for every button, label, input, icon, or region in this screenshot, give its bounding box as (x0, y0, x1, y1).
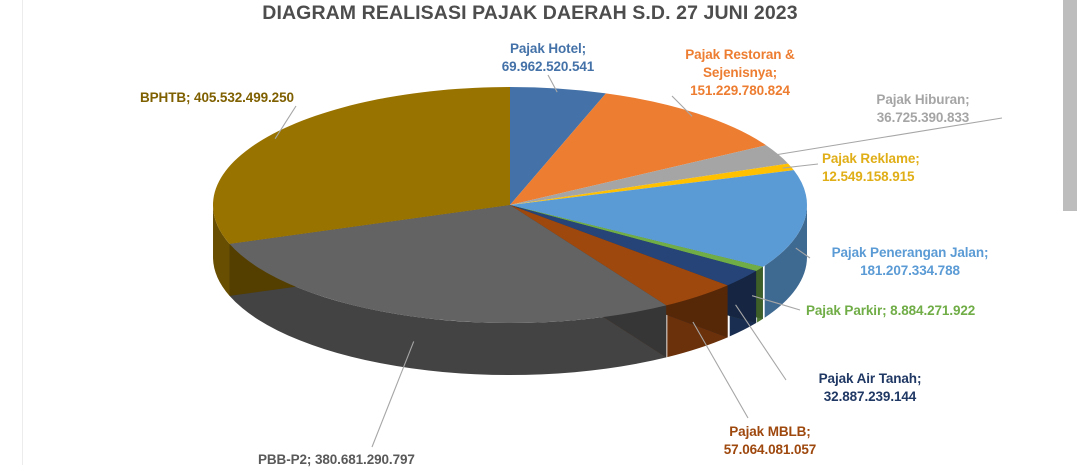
label-pajak-hotel-name: Pajak Hotel; (510, 41, 586, 56)
label-pajak-mblb-name: Pajak MBLB; (729, 424, 810, 439)
label-pajak-reklame: Pajak Reklame; 12.549.158.915 (822, 150, 1012, 186)
label-pajak-mblb-value: 57.064.081.057 (690, 441, 850, 459)
pie-top-faces (213, 87, 807, 323)
label-pajak-restoran: Pajak Restoran & Sejenisnya; 151.229.780… (658, 46, 822, 100)
label-pajak-reklame-value: 12.549.158.915 (822, 168, 1012, 186)
label-pajak-mblb: Pajak MBLB; 57.064.081.057 (690, 423, 850, 459)
label-pajak-restoran-name1: Pajak Restoran & (685, 47, 794, 62)
chart-canvas: DIAGRAM REALISASI PAJAK DAERAH S.D. 27 J… (0, 0, 1080, 465)
label-pajak-hiburan: Pajak Hiburan; 36.725.390.833 (848, 91, 998, 127)
label-pajak-air-tanah-value: 32.887.239.144 (790, 388, 950, 406)
label-pajak-restoran-name2: Sejenisnya; (658, 64, 822, 82)
label-pajak-air-tanah: Pajak Air Tanah; 32.887.239.144 (790, 370, 950, 406)
label-pajak-hotel-value: 69.962.520.541 (478, 58, 618, 76)
label-pajak-reklame-name: Pajak Reklame; (822, 151, 920, 166)
label-pbb-p2: PBB-P2; 380.681.290.797 (258, 451, 518, 469)
vertical-scrollbar[interactable] (1062, 0, 1080, 465)
label-pajak-parkir-text: Pajak Parkir; 8.884.271.922 (806, 303, 975, 318)
label-bphtb-text: BPHTB; 405.532.499.250 (140, 90, 294, 105)
label-pajak-air-tanah-name: Pajak Air Tanah; (819, 371, 922, 386)
scrollbar-thumb[interactable] (1063, 0, 1077, 211)
label-pajak-penerangan-jalan-name: Pajak Penerangan Jalan; (832, 245, 989, 260)
label-pajak-penerangan-jalan: Pajak Penerangan Jalan; 181.207.334.788 (820, 244, 1000, 280)
label-pajak-hiburan-value: 36.725.390.833 (848, 109, 998, 127)
label-pajak-hotel: Pajak Hotel; 69.962.520.541 (478, 40, 618, 76)
label-pajak-penerangan-jalan-value: 181.207.334.788 (820, 262, 1000, 280)
label-pajak-parkir: Pajak Parkir; 8.884.271.922 (806, 302, 1016, 320)
label-bphtb: BPHTB; 405.532.499.250 (140, 89, 390, 107)
label-pajak-hiburan-name: Pajak Hiburan; (876, 92, 969, 107)
label-pajak-restoran-value: 151.229.780.824 (658, 82, 822, 100)
